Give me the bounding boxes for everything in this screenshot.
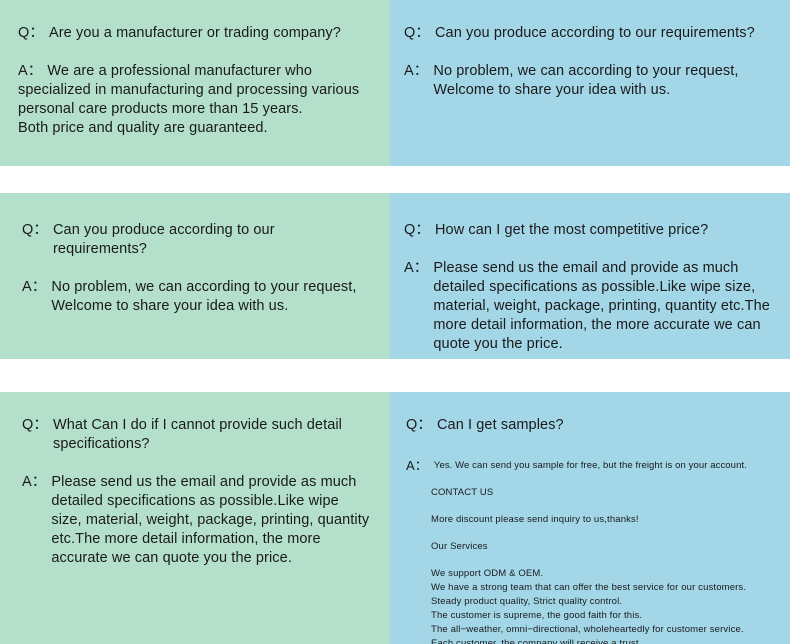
faq-panel-produce-to-requirements-mid: Q： Can you produce according to our requ… xyxy=(0,193,390,359)
answer-text: Please send us the email and provide as … xyxy=(433,259,772,354)
faq-panel-manufacturer-or-trading: Q： Are you a manufacturer or trading com… xyxy=(0,0,390,166)
question-text: Can you produce according to our require… xyxy=(435,24,772,43)
question-marker: Q： xyxy=(404,24,435,43)
answer-text: Please send us the email and provide as … xyxy=(51,473,372,568)
answer-marker: A： xyxy=(406,459,434,473)
faq-answer: A： Yes. We can send you sample for free,… xyxy=(406,459,772,473)
faq-question: Q： Can you produce according to our requ… xyxy=(22,221,372,259)
faq-answer: A： We are a professional manufacturer wh… xyxy=(18,62,372,138)
faq-answer: A： Please send us the email and provide … xyxy=(22,473,372,568)
question-marker: Q： xyxy=(18,24,49,43)
contact-us-heading: CONTACT US xyxy=(431,486,772,500)
faq-page: Q： Are you a manufacturer or trading com… xyxy=(0,0,790,644)
answer-marker: A： xyxy=(404,259,433,278)
faq-row-2: Q： Can you produce according to our requ… xyxy=(0,193,790,359)
faq-answer: A： No problem, we can according to your … xyxy=(404,62,772,100)
question-marker: Q： xyxy=(22,221,53,240)
our-services-list: We support ODM & OEM. We have a strong t… xyxy=(431,567,772,644)
answer-marker: A： xyxy=(22,473,51,492)
faq-panel-cannot-provide-detail-specs: Q： What Can I do if I cannot provide suc… xyxy=(0,392,390,644)
faq-question: Q： How can I get the most competitive pr… xyxy=(404,221,772,240)
faq-question: Q： Can I get samples? xyxy=(406,416,772,435)
question-marker: Q： xyxy=(406,416,437,435)
answer-text: No problem, we can according to your req… xyxy=(433,62,772,100)
faq-panel-most-competitive-price: Q： How can I get the most competitive pr… xyxy=(390,193,790,359)
faq-row-1: Q： Are you a manufacturer or trading com… xyxy=(0,0,790,166)
faq-answer: A： No problem, we can according to your … xyxy=(22,278,372,316)
our-services-heading: Our Services xyxy=(431,540,772,554)
question-marker: Q： xyxy=(404,221,435,240)
answer-text: We are a professional manufacturer who s… xyxy=(18,62,372,138)
faq-question: Q： Can you produce according to our requ… xyxy=(404,24,772,43)
faq-answer: A： Please send us the email and provide … xyxy=(404,259,772,354)
answer-marker: A： xyxy=(22,278,51,297)
question-text: Can you produce according to our require… xyxy=(53,221,372,259)
faq-question: Q： What Can I do if I cannot provide suc… xyxy=(22,416,372,454)
faq-question: Q： Are you a manufacturer or trading com… xyxy=(18,24,372,43)
question-text: Can I get samples? xyxy=(437,416,772,435)
contact-inquiry-line: More discount please send inquiry to us,… xyxy=(431,513,772,527)
faq-panel-can-i-get-samples: Q： Can I get samples? A： Yes. We can sen… xyxy=(390,392,790,644)
question-text: How can I get the most competitive price… xyxy=(435,221,772,240)
answer-marker: A： xyxy=(18,62,47,81)
question-text: Are you a manufacturer or trading compan… xyxy=(49,24,372,43)
question-marker: Q： xyxy=(22,416,53,435)
faq-panel-produce-to-requirements-top: Q： Can you produce according to our requ… xyxy=(390,0,790,166)
question-text: What Can I do if I cannot provide such d… xyxy=(53,416,372,454)
answer-text: Yes. We can send you sample for free, bu… xyxy=(434,459,772,473)
faq-row-3: Q： What Can I do if I cannot provide suc… xyxy=(0,392,790,644)
answer-text: No problem, we can according to your req… xyxy=(51,278,372,316)
answer-marker: A： xyxy=(404,62,433,81)
